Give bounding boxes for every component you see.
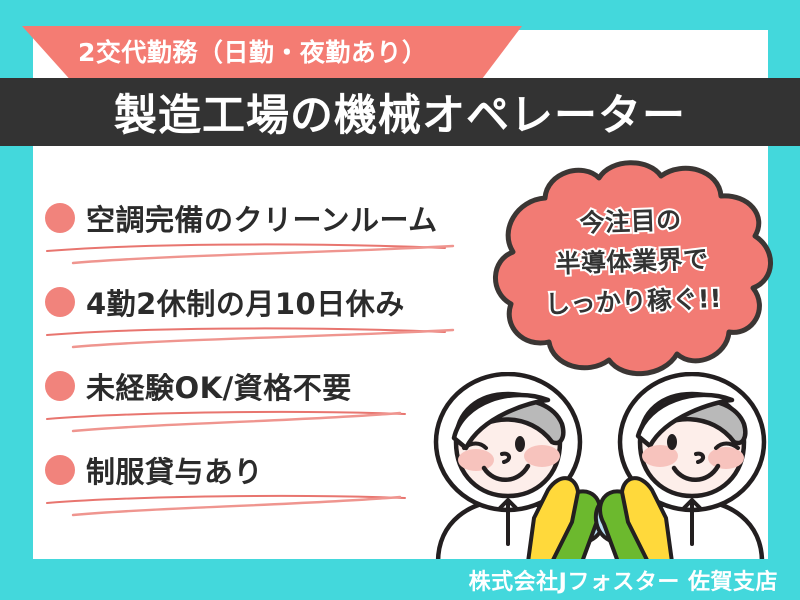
list-item-label: 未経験OK/資格不要 [86,365,352,407]
highlight-cloud-bubble: 今注目の 半導体業界で しっかり稼ぐ!! [487,158,777,386]
ribbon-label: 2交代勤務（日勤・夜勤あり） [78,33,427,73]
list-item: 制服貸与あり [45,448,475,532]
cleanroom-workers-illustration [420,372,780,562]
list-item: 空調完備のクリーンルーム [45,196,475,280]
page-title: 製造工場の機械オペレーター [0,78,800,146]
benefits-list: 空調完備のクリーンルーム 4勤2休制の月10日休み 未経験OK/資格不要 [45,196,475,532]
list-item-label: 空調完備のクリーンルーム [86,197,438,239]
handdrawn-underline-icon [45,408,465,436]
list-item: 4勤2休制の月10日休み [45,280,475,364]
bullet-dot-icon [45,455,75,485]
list-item: 未経験OK/資格不要 [45,364,475,448]
handdrawn-underline-icon [45,492,465,520]
company-name: 株式会社Jフォスター 佐賀支店 [469,564,778,596]
list-item-label: 制服貸与あり [86,449,263,491]
handdrawn-underline-icon [45,240,465,268]
list-item-label: 4勤2休制の月10日休み [86,281,405,323]
footer-bar: 株式会社Jフォスター 佐賀支店 [0,559,800,600]
bullet-dot-icon [45,203,75,233]
handdrawn-underline-icon [45,324,465,352]
cloud-bubble-text: 今注目の 半導体業界で しっかり稼ぐ!! [485,197,779,327]
job-advertisement-poster: 2交代勤務（日勤・夜勤あり） 製造工場の機械オペレーター 空調完備のクリーンルー… [0,0,800,600]
bullet-dot-icon [45,287,75,317]
bullet-dot-icon [45,371,75,401]
